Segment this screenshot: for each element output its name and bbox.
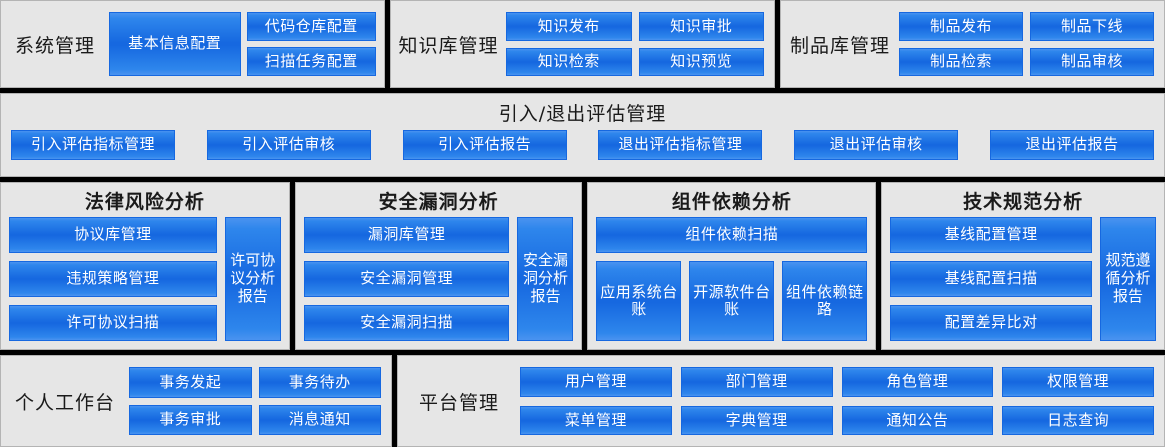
button-role-management[interactable]: 角色管理 [842, 367, 994, 397]
button-security-vulnerability-scan[interactable]: 安全漏洞扫描 [304, 305, 510, 341]
button-security-vulnerability-management[interactable]: 安全漏洞管理 [304, 261, 510, 297]
button-baseline-config-management[interactable]: 基线配置管理 [890, 217, 1092, 253]
button-license-agreement-scan[interactable]: 许可协议扫描 [9, 305, 217, 341]
panel-component-dependency-analysis: 组件依赖分析 组件依赖扫描 应用系统台账 开源软件台账 组件依赖链路 [587, 182, 876, 350]
security-vulnerability-analysis-buttons: 漏洞库管理 安全漏洞管理 安全漏洞扫描 [304, 217, 510, 341]
legal-risk-report-wrapper: 许可协议分析报告 [225, 217, 281, 341]
button-specification-compliance-analysis-report[interactable]: 规范遵循分析报告 [1100, 217, 1156, 341]
button-exit-eval-metric-management[interactable]: 退出评估指标管理 [598, 130, 762, 160]
platform-management-buttons: 用户管理 部门管理 角色管理 权限管理 菜单管理 字典管理 通知公告 日志查询 [520, 367, 1164, 435]
specification-compliance-report-wrapper: 规范遵循分析报告 [1100, 217, 1156, 341]
button-artifact-offline[interactable]: 制品下线 [1030, 12, 1154, 41]
button-artifact-review[interactable]: 制品审核 [1030, 48, 1154, 77]
button-artifact-publish[interactable]: 制品发布 [899, 12, 1023, 41]
panel-technical-specification-analysis: 技术规范分析 基线配置管理 基线配置扫描 配置差异比对 规范遵循分析报告 [881, 182, 1165, 350]
button-introduce-eval-metric-management[interactable]: 引入评估指标管理 [11, 130, 175, 160]
button-task-todo[interactable]: 事务待办 [259, 367, 382, 398]
section-title-component-dependency-analysis: 组件依赖分析 [596, 187, 867, 214]
system-management-button-stack: 代码仓库配置 扫描任务配置 [247, 12, 377, 76]
button-introduce-eval-report[interactable]: 引入评估报告 [403, 130, 567, 160]
button-task-initiate[interactable]: 事务发起 [129, 367, 252, 398]
section-title-system-management: 系统管理 [1, 31, 109, 58]
button-scan-task-config[interactable]: 扫描任务配置 [247, 47, 377, 76]
button-component-dependency-chain[interactable]: 组件依赖链路 [782, 261, 867, 341]
knowledge-base-buttons: 知识发布 知识审批 知识检索 知识预览 [506, 12, 774, 76]
system-management-buttons: 基本信息配置 代码仓库配置 扫描任务配置 [109, 12, 384, 76]
button-basic-info-config[interactable]: 基本信息配置 [109, 12, 241, 76]
button-license-library-management[interactable]: 协议库管理 [9, 217, 217, 253]
row-workbench-platform: 个人工作台 事务发起 事务待办 事务审批 消息通知 平台管理 用户管理 部门管理… [0, 355, 1165, 447]
button-artifact-search[interactable]: 制品检索 [899, 48, 1023, 77]
technical-specification-analysis-buttons: 基线配置管理 基线配置扫描 配置差异比对 [890, 217, 1092, 341]
panel-personal-workbench: 个人工作台 事务发起 事务待办 事务审批 消息通知 [0, 355, 392, 447]
button-baseline-config-scan[interactable]: 基线配置扫描 [890, 261, 1092, 297]
system-module-map: 系统管理 基本信息配置 代码仓库配置 扫描任务配置 知识库管理 知识发布 知识审… [0, 0, 1165, 447]
legal-risk-analysis-body: 协议库管理 违规策略管理 许可协议扫描 许可协议分析报告 [9, 217, 281, 341]
button-knowledge-preview[interactable]: 知识预览 [639, 48, 765, 77]
button-dictionary-management[interactable]: 字典管理 [681, 406, 833, 436]
button-knowledge-publish[interactable]: 知识发布 [506, 12, 632, 41]
panel-legal-risk-analysis: 法律风险分析 协议库管理 违规策略管理 许可协议扫描 许可协议分析报告 [0, 182, 290, 350]
panel-system-management: 系统管理 基本信息配置 代码仓库配置 扫描任务配置 [0, 0, 385, 88]
button-code-repo-config[interactable]: 代码仓库配置 [247, 12, 377, 41]
artifact-repository-buttons: 制品发布 制品下线 制品检索 制品审核 [899, 12, 1164, 76]
button-notice-announcement[interactable]: 通知公告 [842, 406, 994, 436]
section-title-legal-risk-analysis: 法律风险分析 [9, 187, 281, 214]
button-user-management[interactable]: 用户管理 [520, 367, 672, 397]
button-exit-eval-review[interactable]: 退出评估审核 [794, 130, 958, 160]
legal-risk-analysis-buttons: 协议库管理 违规策略管理 许可协议扫描 [9, 217, 217, 341]
button-component-dependency-scan[interactable]: 组件依赖扫描 [596, 217, 867, 253]
button-task-approve[interactable]: 事务审批 [129, 405, 252, 436]
section-title-artifact-repository-management: 制品库管理 [781, 31, 899, 58]
section-title-technical-specification-analysis: 技术规范分析 [890, 187, 1156, 214]
button-violation-policy-management[interactable]: 违规策略管理 [9, 261, 217, 297]
row-analysis-modules: 法律风险分析 协议库管理 违规策略管理 许可协议扫描 许可协议分析报告 安全漏洞… [0, 182, 1165, 350]
button-log-query[interactable]: 日志查询 [1002, 406, 1154, 436]
button-menu-management[interactable]: 菜单管理 [520, 406, 672, 436]
button-config-difference-comparison[interactable]: 配置差异比对 [890, 305, 1092, 341]
panel-introduce-exit-evaluation-management: 引入/退出评估管理 引入评估指标管理 引入评估审核 引入评估报告 退出评估指标管… [0, 93, 1165, 177]
section-title-platform-management: 平台管理 [398, 388, 520, 415]
button-application-system-ledger[interactable]: 应用系统台账 [596, 261, 681, 341]
evaluation-management-buttons: 引入评估指标管理 引入评估审核 引入评估报告 退出评估指标管理 退出评估审核 退… [7, 130, 1158, 160]
panel-artifact-repository-management: 制品库管理 制品发布 制品下线 制品检索 制品审核 [780, 0, 1165, 88]
section-title-personal-workbench: 个人工作台 [1, 388, 129, 415]
row-top-modules: 系统管理 基本信息配置 代码仓库配置 扫描任务配置 知识库管理 知识发布 知识审… [0, 0, 1165, 88]
section-title-security-vulnerability-analysis: 安全漏洞分析 [304, 187, 574, 214]
button-license-analysis-report[interactable]: 许可协议分析报告 [225, 217, 281, 341]
security-vulnerability-analysis-body: 漏洞库管理 安全漏洞管理 安全漏洞扫描 安全漏洞分析报告 [304, 217, 574, 341]
button-permission-management[interactable]: 权限管理 [1002, 367, 1154, 397]
panel-security-vulnerability-analysis: 安全漏洞分析 漏洞库管理 安全漏洞管理 安全漏洞扫描 安全漏洞分析报告 [295, 182, 583, 350]
panel-knowledge-base-management: 知识库管理 知识发布 知识审批 知识检索 知识预览 [390, 0, 775, 88]
security-vulnerability-report-wrapper: 安全漏洞分析报告 [517, 217, 573, 341]
row-evaluation-management: 引入/退出评估管理 引入评估指标管理 引入评估审核 引入评估报告 退出评估指标管… [0, 93, 1165, 177]
button-knowledge-approve[interactable]: 知识审批 [639, 12, 765, 41]
component-dependency-scan-wrapper: 组件依赖扫描 [596, 217, 867, 253]
personal-workbench-buttons: 事务发起 事务待办 事务审批 消息通知 [129, 367, 391, 435]
button-message-notification[interactable]: 消息通知 [259, 405, 382, 436]
button-security-vulnerability-analysis-report[interactable]: 安全漏洞分析报告 [517, 217, 573, 341]
button-department-management[interactable]: 部门管理 [681, 367, 833, 397]
button-exit-eval-report[interactable]: 退出评估报告 [990, 130, 1154, 160]
button-vulnerability-library-management[interactable]: 漏洞库管理 [304, 217, 510, 253]
technical-specification-analysis-body: 基线配置管理 基线配置扫描 配置差异比对 规范遵循分析报告 [890, 217, 1156, 341]
button-open-source-software-ledger[interactable]: 开源软件台账 [689, 261, 774, 341]
button-introduce-eval-review[interactable]: 引入评估审核 [207, 130, 371, 160]
section-title-introduce-exit-evaluation: 引入/退出评估管理 [7, 99, 1158, 126]
component-dependency-sub-buttons: 应用系统台账 开源软件台账 组件依赖链路 [596, 261, 867, 341]
section-title-knowledge-base-management: 知识库管理 [391, 31, 506, 58]
button-knowledge-search[interactable]: 知识检索 [506, 48, 632, 77]
component-dependency-analysis-body: 组件依赖扫描 应用系统台账 开源软件台账 组件依赖链路 [596, 217, 867, 341]
panel-platform-management: 平台管理 用户管理 部门管理 角色管理 权限管理 菜单管理 字典管理 通知公告 … [397, 355, 1165, 447]
